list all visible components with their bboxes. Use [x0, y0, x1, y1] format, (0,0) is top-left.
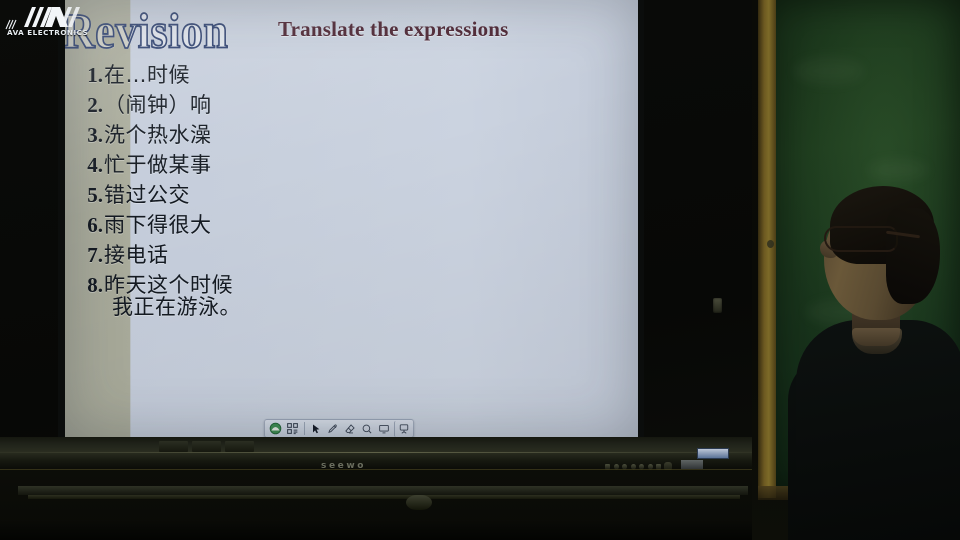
cursor-arrow-icon[interactable] [307, 421, 324, 437]
list-item-text: 雨下得很大 [104, 214, 212, 238]
list-item-number: 7. [79, 244, 104, 268]
chalkboard-frame-left [758, 0, 776, 498]
list-item-text: 接电话 [104, 244, 169, 268]
teacher-figure [790, 178, 960, 540]
ava-logo-icon [14, 5, 86, 29]
interactive-flat-panel: Revision Translate the expressions 1. 在…… [0, 0, 752, 470]
list-item: 8. 昨天这个时候 我正在游泳。 [79, 274, 499, 319]
seewo-home-icon[interactable] [267, 421, 284, 437]
list-item-text: （闹钟）响 [104, 94, 212, 118]
list-item: 1. 在…时候 [79, 64, 499, 88]
expression-list: 1. 在…时候 2. （闹钟）响 3. 洗个热水澡 4. 忙于做某事 [79, 64, 499, 326]
toolbar-divider [304, 422, 305, 435]
toolbar-group-tools [307, 421, 392, 437]
list-item: 3. 洗个热水澡 [79, 124, 499, 148]
desktop-present-icon[interactable] [394, 421, 411, 437]
magnifier-icon[interactable] [358, 421, 375, 437]
list-item-text: 洗个热水澡 [104, 124, 212, 148]
stand-center-knob [406, 495, 432, 510]
floor [0, 520, 752, 540]
ava-brand-text: AVA ELECTRONICS [7, 28, 88, 37]
list-item: 2. （闹钟）响 [79, 94, 499, 118]
slide-heading: Translate the expressions [278, 17, 509, 42]
panel-side-sensor [767, 240, 774, 248]
toolbar-group-primary [267, 421, 301, 437]
list-item: 6. 雨下得很大 [79, 214, 499, 238]
presentation-slide[interactable]: Revision Translate the expressions 1. 在…… [65, 0, 638, 437]
panel-screen[interactable]: Revision Translate the expressions 1. 在…… [65, 0, 638, 437]
annotation-toolbar[interactable] [264, 419, 414, 437]
list-item-text: 错过公交 [104, 184, 190, 208]
apps-grid-icon[interactable] [284, 421, 301, 437]
stand-crossbar-trim [28, 495, 740, 499]
panel-label-sticker [697, 448, 729, 459]
teacher-hair-back [886, 208, 940, 304]
pen-icon[interactable] [324, 421, 341, 437]
list-item-number: 3. [79, 124, 104, 148]
ava-watermark: AVA ELECTRONICS [4, 3, 90, 41]
list-item-number: 2. [79, 94, 104, 118]
list-item-text: 在…时候 [104, 64, 190, 88]
list-item-text: 昨天这个时候 我正在游泳。 [104, 274, 241, 319]
list-item-number: 4. [79, 154, 104, 178]
panel-label-secondary [681, 460, 703, 469]
panel-tray-tabs [159, 441, 254, 452]
stand-crossbar [18, 486, 748, 495]
list-item: 7. 接电话 [79, 244, 499, 268]
eraser-icon[interactable] [341, 421, 358, 437]
screen-capture-icon[interactable] [375, 421, 392, 437]
list-item-text: 忙于做某事 [104, 154, 212, 178]
list-item-text-line1: 昨天这个时候 [104, 273, 233, 297]
list-item: 5. 错过公交 [79, 184, 499, 208]
panel-side-knob[interactable] [713, 298, 722, 313]
classroom-scene: Revision Translate the expressions 1. 在…… [0, 0, 960, 540]
list-item-text-line2: 我正在游泳。 [112, 296, 241, 320]
list-item-number: 8. [79, 274, 104, 298]
list-item-number: 6. [79, 214, 104, 238]
list-item: 4. 忙于做某事 [79, 154, 499, 178]
list-item-number: 1. [79, 64, 104, 88]
bezel-highlight [0, 452, 752, 453]
list-item-number: 5. [79, 184, 104, 208]
